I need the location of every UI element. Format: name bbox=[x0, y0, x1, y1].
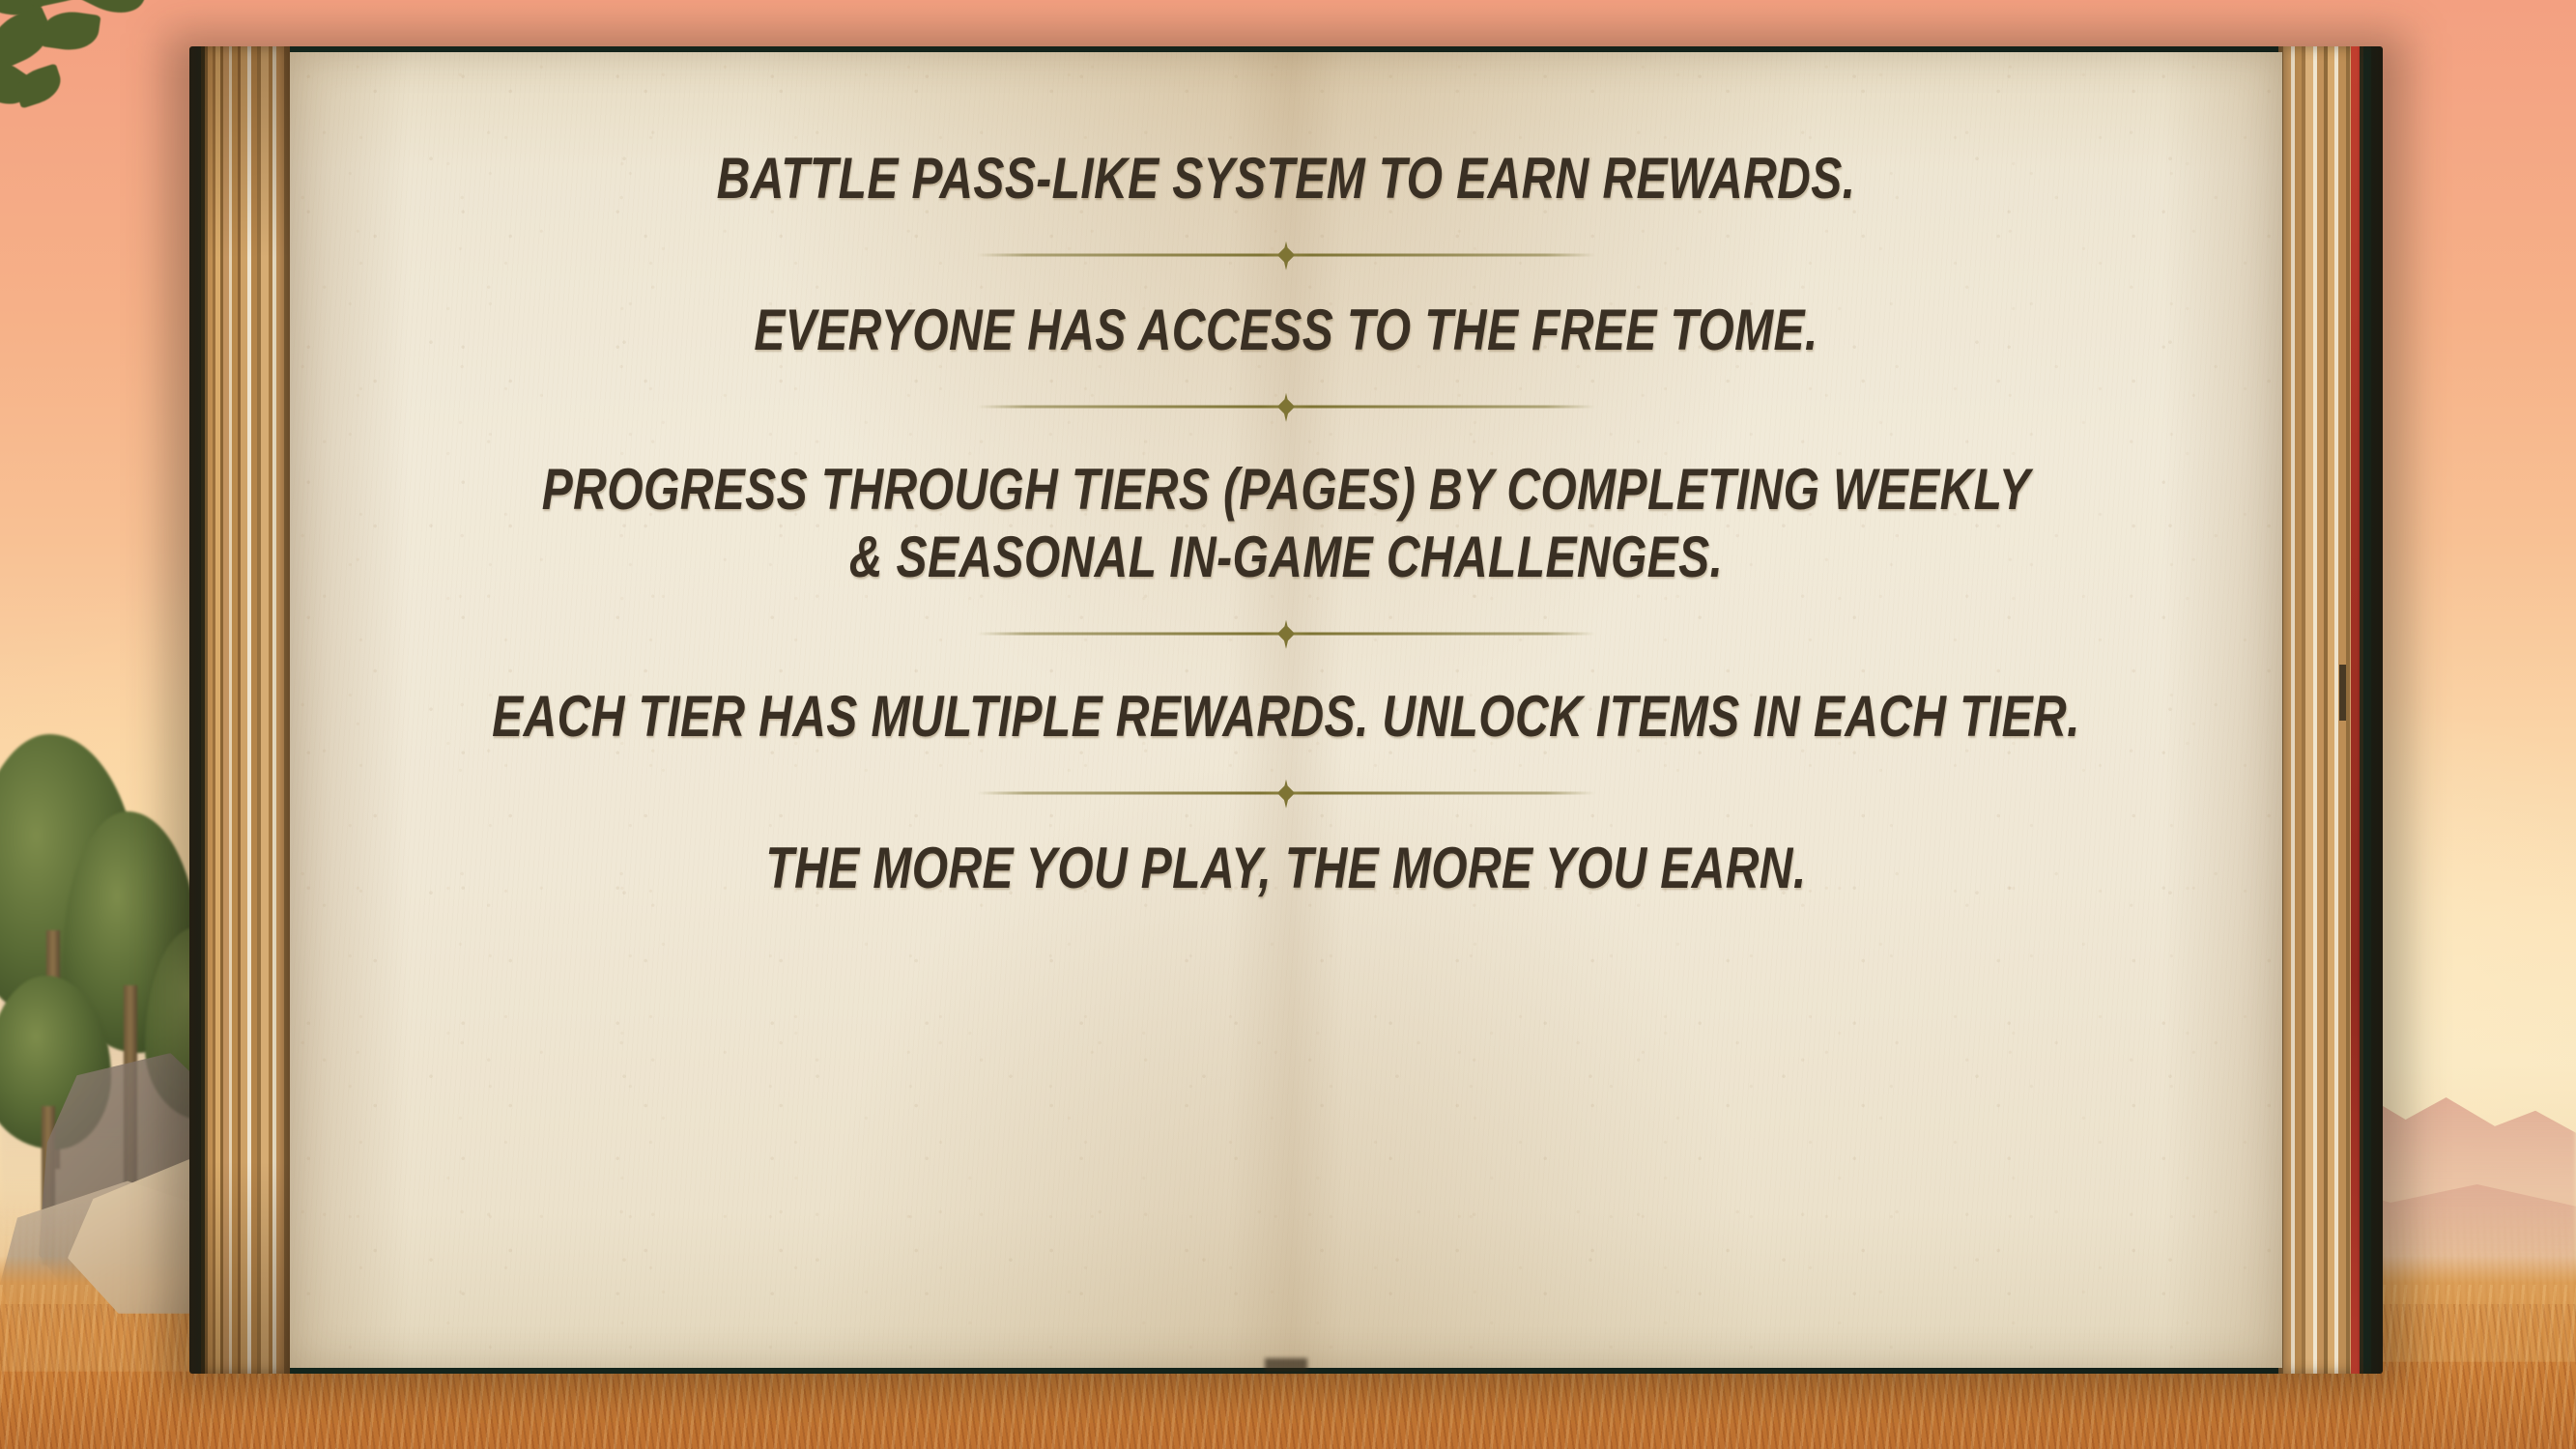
diamond-divider-icon bbox=[977, 621, 1595, 646]
book-spine-notch bbox=[1265, 1358, 1307, 1372]
page-content: BATTLE PASS-LIKE SYSTEM TO EARN REWARDS.… bbox=[290, 52, 2282, 1368]
open-book: BATTLE PASS-LIKE SYSTEM TO EARN REWARDS.… bbox=[189, 46, 2383, 1374]
statement-progress-tiers: PROGRESS THROUGH TIERS (PAGES) BY COMPLE… bbox=[320, 456, 2252, 593]
statement-free-tome: EVERYONE HAS ACCESS TO THE FREE TOME. bbox=[320, 297, 2252, 365]
scene-root: BATTLE PASS-LIKE SYSTEM TO EARN REWARDS.… bbox=[0, 0, 2576, 1449]
statement-more-you-play: THE MORE YOU PLAY, THE MORE YOU EARN. bbox=[320, 835, 2252, 903]
book-ribbon-notch bbox=[2339, 665, 2346, 721]
book-page-stack-left bbox=[201, 46, 290, 1374]
book-page-spread: BATTLE PASS-LIKE SYSTEM TO EARN REWARDS.… bbox=[290, 52, 2282, 1368]
diamond-divider-icon bbox=[977, 394, 1595, 419]
statement-battle-pass: BATTLE PASS-LIKE SYSTEM TO EARN REWARDS. bbox=[320, 145, 2252, 213]
diamond-divider-icon bbox=[977, 242, 1595, 268]
statement-multiple-rewards: EACH TIER HAS MULTIPLE REWARDS. UNLOCK I… bbox=[320, 683, 2252, 752]
book-ribbon-bookmark bbox=[2351, 46, 2360, 1374]
diamond-divider-icon bbox=[977, 781, 1595, 806]
